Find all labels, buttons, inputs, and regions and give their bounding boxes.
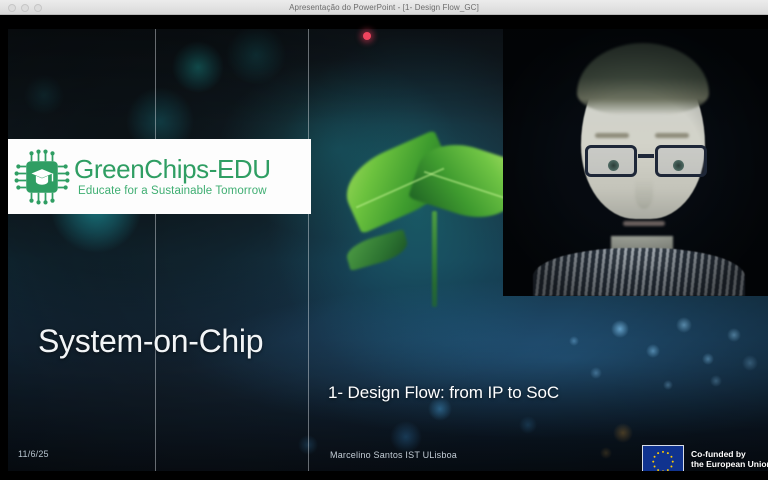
- slide-author-credit: Marcelino Santos IST ULisboa: [330, 450, 457, 460]
- zoom-button[interactable]: [34, 4, 42, 12]
- presentation-stage: GreenChips-EDU Educate for a Sustainable…: [0, 15, 768, 480]
- greenchips-edu-logo: GreenChips-EDU Educate for a Sustainable…: [8, 139, 311, 214]
- slide-title: System-on-Chip: [38, 323, 263, 360]
- slide-subtitle: 1- Design Flow: from IP to SoC: [328, 383, 559, 403]
- presentation-window: Apresentação do PowerPoint - [1- Design …: [0, 0, 768, 480]
- eu-cofunding-badge: Co-funded by the European Union: [642, 445, 768, 471]
- logo-tagline: Educate for a Sustainable Tomorrow: [74, 184, 271, 199]
- vertical-guide-left: [155, 29, 156, 471]
- logo-wordmark: GreenChips-EDU Educate for a Sustainable…: [74, 154, 271, 199]
- eu-badge-line2: the European Union: [691, 459, 768, 470]
- vertical-guide-right: [308, 29, 309, 471]
- eu-flag-icon: [642, 445, 684, 471]
- minimize-button[interactable]: [21, 4, 29, 12]
- slide-date: 11/6/25: [18, 449, 49, 459]
- window-controls: [8, 0, 42, 15]
- presenter-webcam[interactable]: [503, 29, 768, 296]
- chip-graduation-cap-icon: [14, 149, 70, 205]
- close-button[interactable]: [8, 4, 16, 12]
- window-titlebar: Apresentação do PowerPoint - [1- Design …: [0, 0, 768, 15]
- recording-dot: [363, 32, 371, 40]
- logo-name: GreenChips-EDU: [74, 154, 271, 184]
- eu-badge-line1: Co-funded by: [691, 449, 768, 460]
- eu-badge-text: Co-funded by the European Union: [691, 449, 768, 470]
- window-title: Apresentação do PowerPoint - [1- Design …: [0, 0, 768, 15]
- webcam-vignette: [503, 29, 768, 296]
